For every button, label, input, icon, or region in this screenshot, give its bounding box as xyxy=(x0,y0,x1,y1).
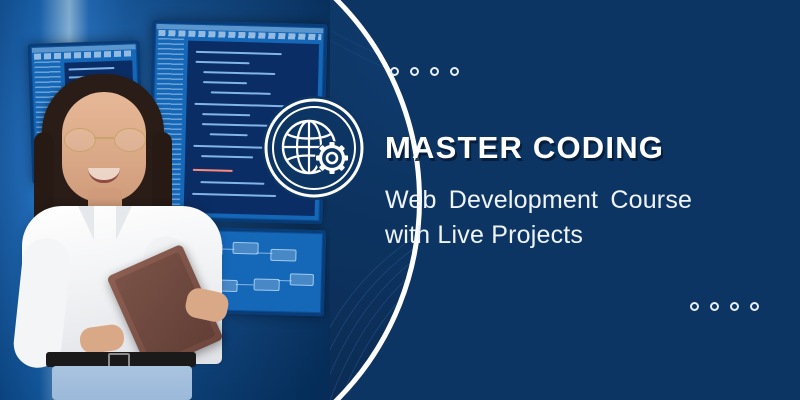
dot-ring xyxy=(750,302,759,311)
subtitle-line-2: with Live Projects xyxy=(385,218,775,254)
dot-ring xyxy=(690,302,699,311)
collar-left xyxy=(78,206,94,240)
headline: MASTER CODING xyxy=(385,132,775,165)
subtitle: Web Development Course with Live Project… xyxy=(385,183,775,254)
promo-banner: MASTER CODING Web Development Course wit… xyxy=(0,0,800,400)
dot-ring xyxy=(390,67,399,76)
hero-photo xyxy=(0,0,330,400)
text-block: MASTER CODING Web Development Course wit… xyxy=(385,132,775,254)
collar-right xyxy=(116,206,132,240)
glasses-icon xyxy=(62,128,148,150)
subtitle-line-1: Web Development Course xyxy=(385,183,775,219)
dot-ring xyxy=(450,67,459,76)
jeans xyxy=(52,366,192,400)
dot-ring xyxy=(710,302,719,311)
globe-gear-icon xyxy=(262,96,366,200)
belt xyxy=(46,352,196,367)
dots-decoration-top xyxy=(390,67,459,76)
dot-ring xyxy=(410,67,419,76)
person-figure xyxy=(0,0,330,400)
dot-ring xyxy=(430,67,439,76)
dots-decoration-bottom xyxy=(690,302,759,311)
dot-ring xyxy=(730,302,739,311)
